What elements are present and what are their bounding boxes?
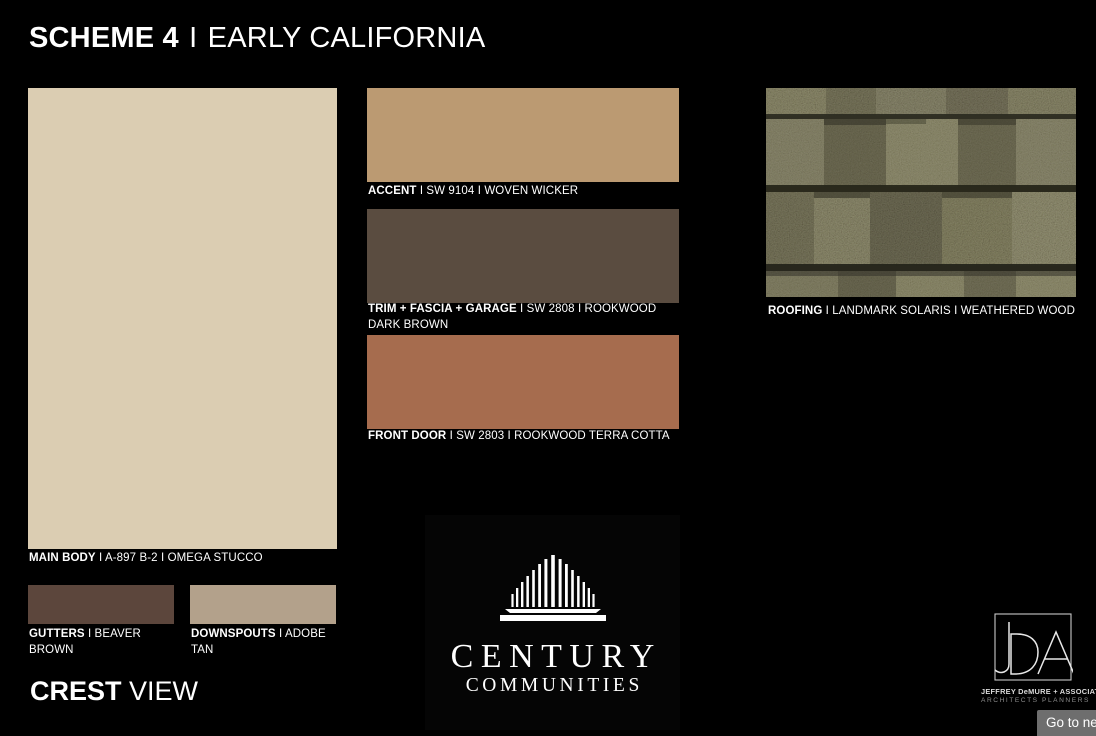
swatch-separator: I xyxy=(826,305,829,317)
swatch-code-accent: SW 9104 xyxy=(426,185,474,197)
swatch-separator: I xyxy=(508,430,511,442)
swatch-separator: I xyxy=(88,628,91,640)
swatch-separator: I xyxy=(99,552,102,564)
swatch-role-accent: ACCENT xyxy=(368,185,417,197)
color-swatch-front-door xyxy=(367,335,679,429)
scheme-number-label: SCHEME 4 xyxy=(29,22,179,54)
swatch-role-trim: TRIM + FASCIA + GARAGE xyxy=(368,303,517,315)
swatch-role-gutters: GUTTERS xyxy=(29,628,85,640)
swatch-product-accent: WOVEN WICKER xyxy=(484,185,578,197)
jda-monogram-icon xyxy=(981,612,1073,682)
jda-firm-name: JEFFREY DeMURE + ASSOCIATES xyxy=(981,687,1079,696)
swatch-code-trim: SW 2808 xyxy=(527,303,575,315)
swatch-label-front-door: FRONT DOOR I SW 2803 I ROOKWOOD TERRA CO… xyxy=(368,429,698,445)
swatch-code-main-body: A-897 B-2 xyxy=(105,552,158,564)
jda-logo: JEFFREY DeMURE + ASSOCIATES ARCHITECTS P… xyxy=(981,612,1079,712)
columns-building-icon xyxy=(478,551,628,627)
title-separator: I xyxy=(187,22,199,54)
swatch-separator: I xyxy=(578,303,581,315)
jda-disciplines: ARCHITECTS PLANNERS xyxy=(981,697,1079,704)
swatch-label-trim-fascia-garage: TRIM + FASCIA + GARAGE I SW 2808 I ROOKW… xyxy=(368,302,680,333)
swatch-separator: I xyxy=(954,305,957,317)
swatch-product-main-body: OMEGA STUCCO xyxy=(168,552,263,564)
century-subwordmark: COMMUNITIES xyxy=(425,675,680,697)
swatch-role-front-door: FRONT DOOR xyxy=(368,430,446,442)
century-wordmark: CENTURY xyxy=(425,638,680,676)
community-name-bold: CREST xyxy=(30,676,122,706)
swatch-separator: I xyxy=(450,430,453,442)
shingle-texture-image xyxy=(766,88,1076,297)
swatch-label-main-body: MAIN BODY I A-897 B-2 I OMEGA STUCCO xyxy=(29,551,359,567)
material-swatch-roofing xyxy=(766,88,1076,297)
color-swatch-main-body xyxy=(28,88,337,549)
swatch-separator: I xyxy=(478,185,481,197)
swatch-separator: I xyxy=(279,628,282,640)
swatch-role-roofing: ROOFING xyxy=(768,305,822,317)
color-swatch-accent xyxy=(367,88,679,182)
swatch-separator: I xyxy=(161,552,164,564)
go-to-next-page-button[interactable]: Go to next page xyxy=(1037,710,1096,736)
swatch-product-roofing: WEATHERED WOOD xyxy=(961,305,1075,317)
swatch-code-roofing: LANDMARK SOLARIS xyxy=(832,305,951,317)
community-name: CREST VIEW xyxy=(30,676,198,707)
page-title: SCHEME 4 I EARLY CALIFORNIA xyxy=(29,22,485,55)
swatch-label-accent: ACCENT I SW 9104 I WOVEN WICKER xyxy=(368,184,688,200)
swatch-separator: I xyxy=(420,185,423,197)
color-swatch-downspouts xyxy=(190,585,336,624)
swatch-role-main-body: MAIN BODY xyxy=(29,552,96,564)
swatch-separator: I xyxy=(520,303,523,315)
swatch-role-downspouts: DOWNSPOUTS xyxy=(191,628,276,640)
scheme-name-label: EARLY CALIFORNIA xyxy=(208,22,486,54)
color-swatch-gutters xyxy=(28,585,174,624)
century-communities-logo: CENTURY COMMUNITIES xyxy=(425,515,680,730)
swatch-code-front-door: SW 2803 xyxy=(456,430,504,442)
color-swatch-trim-fascia-garage xyxy=(367,209,679,303)
swatch-label-gutters: GUTTERS I BEAVER BROWN xyxy=(29,627,179,658)
community-name-rest: VIEW xyxy=(129,676,198,706)
swatch-label-downspouts: DOWNSPOUTS I ADOBE TAN xyxy=(191,627,341,658)
swatch-product-front-door: ROOKWOOD TERRA COTTA xyxy=(514,430,670,442)
swatch-label-roofing: ROOFING I LANDMARK SOLARIS I WEATHERED W… xyxy=(768,304,1096,320)
